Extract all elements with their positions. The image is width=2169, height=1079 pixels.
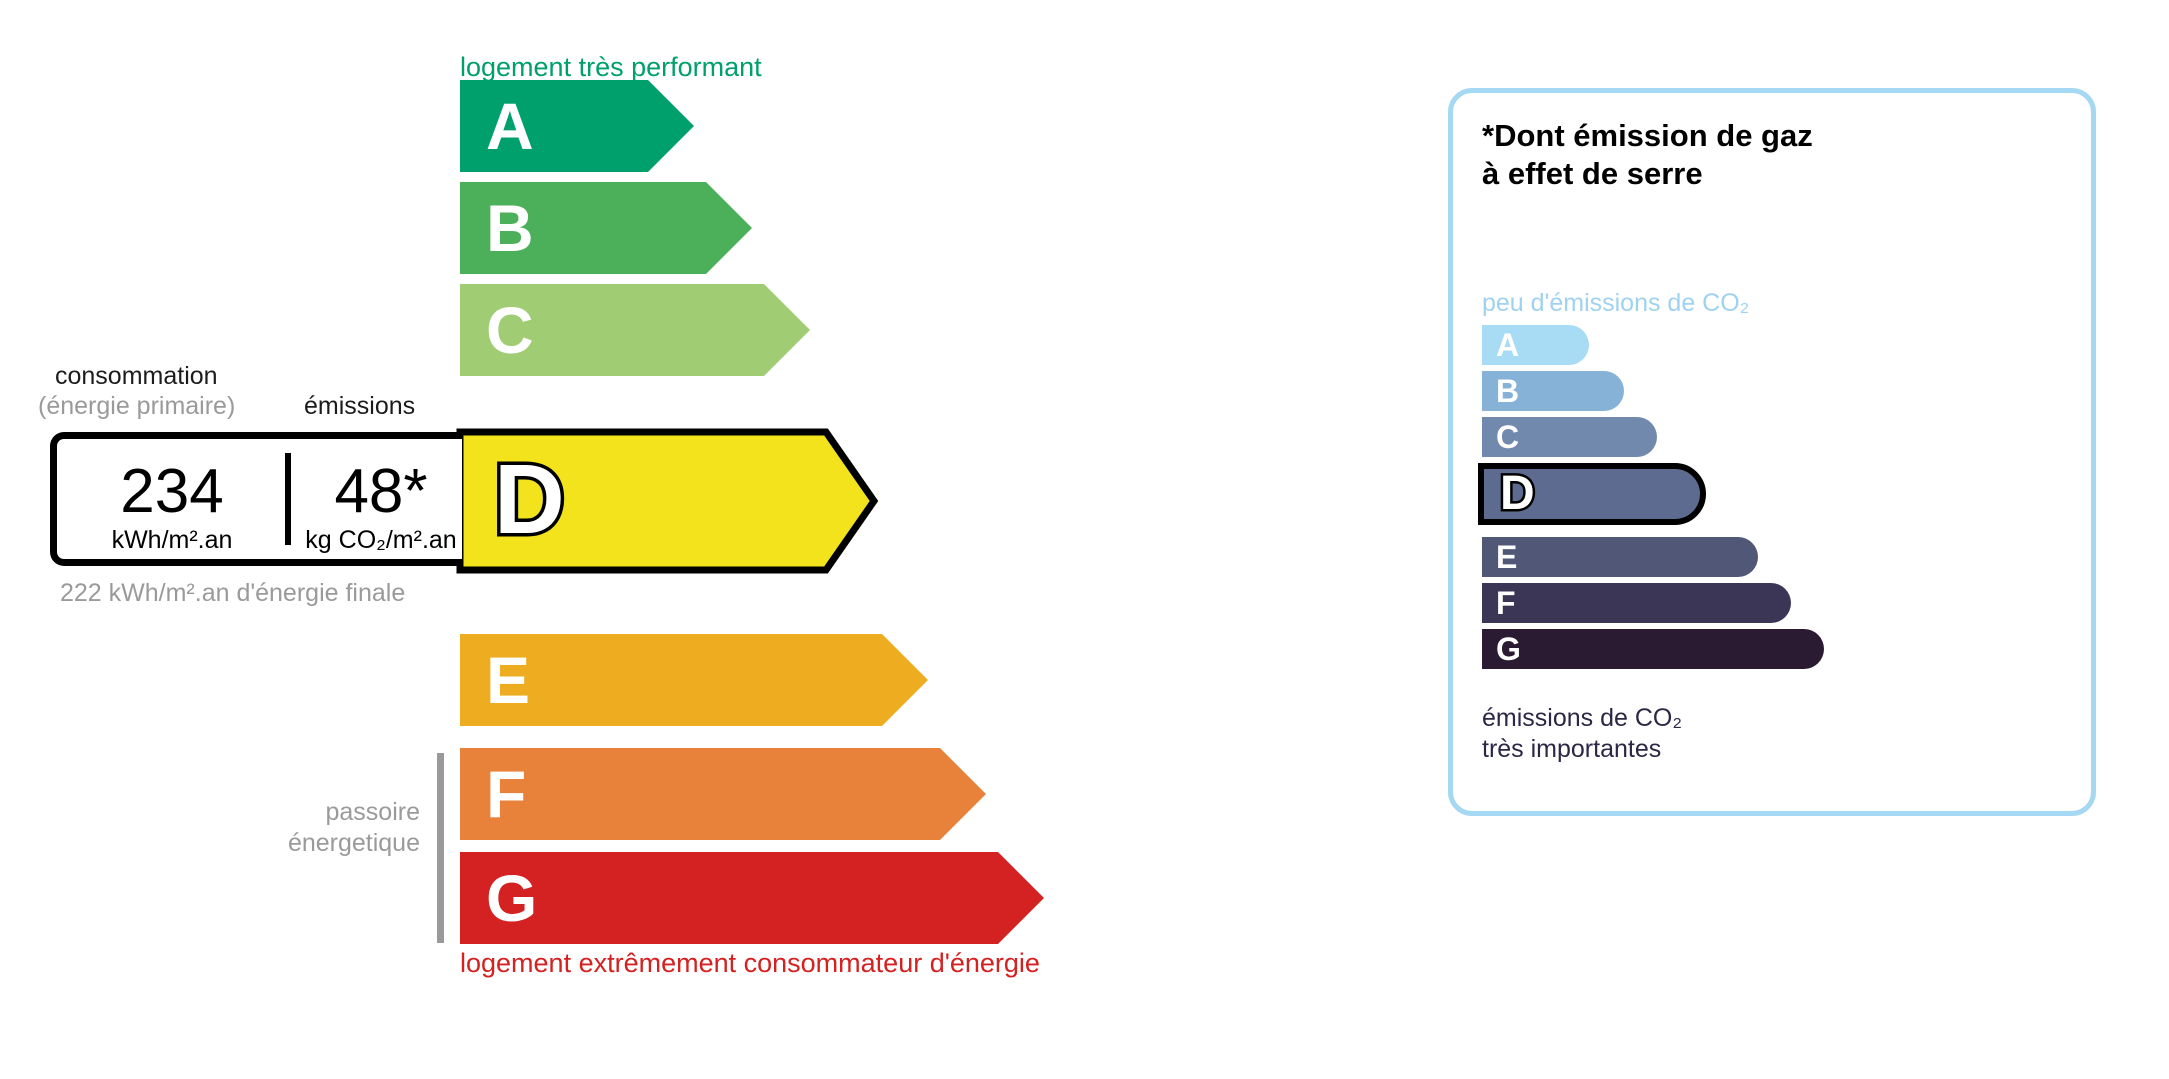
- co2-bar-d-selected[interactable]: D: [1478, 463, 1706, 525]
- co2-bar-f-letter: F: [1496, 587, 1516, 619]
- final-energy-note: 222 kWh/m².an d'énergie finale: [60, 578, 405, 609]
- label-consommation: consommation: [55, 362, 218, 391]
- energy-bar-g-letter: G: [486, 865, 537, 931]
- energy-bar-g[interactable]: G: [460, 852, 1044, 944]
- co2-bar-b[interactable]: B: [1482, 371, 1624, 411]
- emission-unit: kg CO₂/m².an: [293, 526, 469, 555]
- co2-bar-a[interactable]: A: [1482, 325, 1589, 365]
- label-emissions: émissions: [304, 392, 415, 421]
- energy-bar-g-shape: [460, 852, 1044, 944]
- value-box: 234 kWh/m².an 48* kg CO₂/m².an: [50, 432, 462, 566]
- primary-energy-value-cell: 234 kWh/m².an: [61, 463, 283, 555]
- energy-bar-f-shape: [460, 748, 986, 840]
- primary-energy-value: 234: [61, 463, 283, 522]
- co2-bar-c[interactable]: C: [1482, 417, 1657, 457]
- energy-bar-b[interactable]: B: [460, 182, 752, 274]
- energy-bar-a-letter: A: [486, 93, 534, 159]
- primary-energy-unit: kWh/m².an: [61, 526, 283, 555]
- emission-value: 48*: [293, 463, 469, 522]
- energy-bar-e-shape: [460, 634, 928, 726]
- energy-bar-d-letter: D: [494, 450, 565, 548]
- co2-bar-b-letter: B: [1496, 375, 1519, 407]
- co2-bar-f[interactable]: F: [1482, 583, 1791, 623]
- chart-bottom-caption: logement extrêmement consommateur d'éner…: [460, 948, 1040, 979]
- energy-bar-f-letter: F: [486, 761, 526, 827]
- energy-bar-a[interactable]: A: [460, 80, 694, 172]
- energy-bar-f[interactable]: F: [460, 748, 986, 840]
- co2-panel-title: *Dont émission de gaz à effet de serre: [1482, 117, 1813, 193]
- co2-bar-e[interactable]: E: [1482, 537, 1758, 577]
- energy-bar-b-letter: B: [486, 195, 534, 261]
- co2-bar-g[interactable]: G: [1482, 629, 1824, 669]
- co2-bar-a-letter: A: [1496, 329, 1519, 361]
- co2-bar-c-letter: C: [1496, 421, 1519, 453]
- energy-bar-d-selected[interactable]: D: [460, 432, 870, 566]
- co2-bottom-caption: émissions de CO₂ très importantes: [1482, 703, 1682, 764]
- passoire-energetique-label: passoire énergetique: [230, 797, 420, 858]
- co2-panel: *Dont émission de gaz à effet de serre p…: [1448, 88, 2096, 816]
- label-energie-primaire: (énergie primaire): [38, 392, 235, 421]
- co2-top-caption: peu d'émissions de CO₂: [1482, 289, 1749, 318]
- energy-bar-e[interactable]: E: [460, 634, 928, 726]
- energy-performance-chart: logement très performant A B C D E F G l…: [0, 0, 1380, 1079]
- energy-bar-c-letter: C: [486, 297, 534, 363]
- emission-value-cell: 48* kg CO₂/m².an: [293, 463, 469, 555]
- passoire-bracket: [437, 753, 444, 943]
- energy-bar-e-letter: E: [486, 647, 530, 713]
- chart-top-caption: logement très performant: [460, 52, 762, 83]
- energy-bar-c[interactable]: C: [460, 284, 810, 376]
- co2-bar-g-letter: G: [1496, 633, 1521, 665]
- co2-bar-e-letter: E: [1496, 541, 1517, 573]
- value-box-divider: [285, 453, 291, 545]
- co2-bar-d-letter: D: [1500, 470, 1535, 518]
